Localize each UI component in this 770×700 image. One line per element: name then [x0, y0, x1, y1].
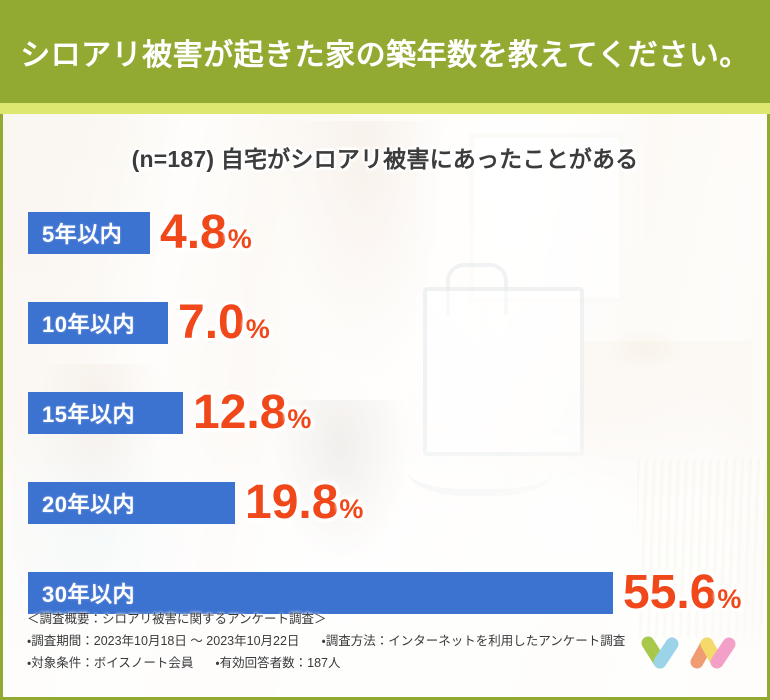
bar-value: 19.8%	[245, 479, 363, 527]
chart-content: (n=187) 自宅がシロアリ被害にあったことがある 5年以内 4.8% 10年…	[3, 103, 767, 697]
bar-value: 4.8%	[160, 209, 252, 257]
bar-row: 20年以内 19.8%	[3, 458, 770, 548]
bar-value: 7.0%	[178, 299, 270, 347]
footnote-target: ・対象条件：ボイスノート会員	[27, 656, 193, 670]
footnote-line-target: ・対象条件：ボイスノート会員・有効回答者数：187人	[27, 653, 747, 675]
bar-value: 12.8%	[193, 389, 311, 437]
bar-chart: 5年以内 4.8% 10年以内 7.0% 15年以内	[3, 188, 770, 638]
bar-5years: 5年以内	[28, 212, 150, 254]
bar-30years: 30年以内	[28, 572, 613, 614]
bar-value-unit: %	[246, 314, 270, 344]
voice-note-logo-mark	[641, 635, 745, 675]
footnote-line-period: ・調査期間：2023年10月18日 〜 2023年10月22日・調査方法：インタ…	[27, 631, 747, 653]
bar-value-number: 4.8	[160, 206, 227, 259]
bar-label: 30年以内	[28, 577, 135, 609]
survey-footnote: ＜調査概要：シロアリ被害に関するアンケート調査＞ ・調査期間：2023年10月1…	[27, 609, 747, 675]
bar-value-number: 12.8	[193, 386, 286, 439]
bar-label: 15年以内	[28, 397, 135, 429]
footnote-responses: ・有効回答者数：187人	[215, 656, 340, 670]
bar-value-unit: %	[287, 404, 311, 434]
bar-value-unit: %	[228, 224, 252, 254]
chart-subtitle: (n=187) 自宅がシロアリ被害にあったことがある	[3, 140, 767, 174]
footnote-method: ・調査方法：インターネットを利用したアンケート調査	[321, 634, 625, 648]
voice-note-logo	[641, 635, 745, 675]
bar-value-number: 19.8	[245, 476, 338, 529]
bar-15years: 15年以内	[28, 392, 183, 434]
bar-value-number: 7.0	[178, 296, 245, 349]
chart-body: (n=187) 自宅がシロアリ被害にあったことがある 5年以内 4.8% 10年…	[0, 103, 770, 700]
bar-row: 15年以内 12.8%	[3, 368, 770, 458]
bar-label: 10年以内	[28, 307, 135, 339]
header-accent-stripe	[0, 103, 770, 114]
page-title: シロアリ被害が起きた家の築年数を教えてください。	[20, 31, 750, 72]
bar-row: 5年以内 4.8%	[3, 188, 770, 278]
bar-10years: 10年以内	[28, 302, 168, 344]
infographic-root: シロアリ被害が起きた家の築年数を教えてください。 (n=187) 自宅がシロアリ…	[0, 0, 770, 700]
footnote-period: ・調査期間：2023年10月18日 〜 2023年10月22日	[27, 634, 299, 648]
bar-20years: 20年以内	[28, 482, 235, 524]
header-banner: シロアリ被害が起きた家の築年数を教えてください。	[0, 0, 770, 103]
bar-value-unit: %	[339, 494, 363, 524]
footnote-line-overview: ＜調査概要：シロアリ被害に関するアンケート調査＞	[27, 609, 747, 631]
bar-label: 20年以内	[28, 487, 135, 519]
bar-row: 10年以内 7.0%	[3, 278, 770, 368]
bar-label: 5年以内	[28, 217, 122, 249]
